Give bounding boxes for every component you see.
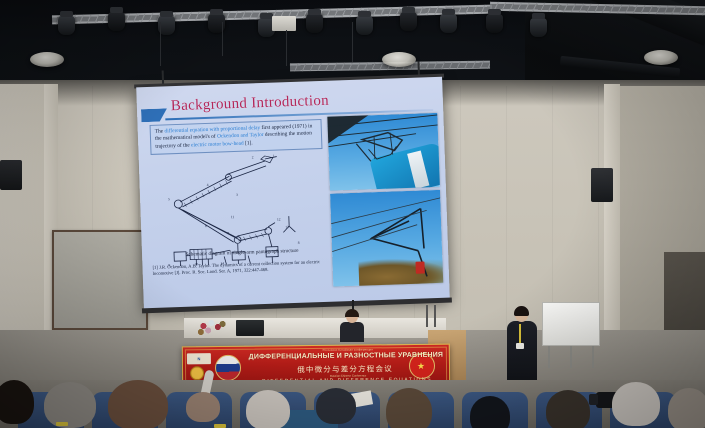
stage-light bbox=[356, 16, 373, 35]
dome-light bbox=[644, 50, 678, 65]
pantograph-arm-lines bbox=[330, 190, 443, 287]
slide-text-seg-3: Ockendon and Taylor bbox=[217, 132, 264, 140]
audience-head bbox=[246, 390, 290, 428]
audience-seating-row bbox=[0, 382, 705, 428]
svg-text:13: 13 bbox=[285, 225, 289, 229]
svg-text:1: 1 bbox=[273, 154, 275, 158]
presenter-torso bbox=[340, 322, 364, 342]
slide-text-box: The differential equation with proportio… bbox=[150, 119, 323, 155]
slide-text-seg-5: electric motor bow-head bbox=[191, 141, 244, 149]
stage-light bbox=[440, 14, 457, 33]
dome-light bbox=[30, 52, 64, 67]
hanging-cable bbox=[222, 22, 223, 56]
presenter-hair bbox=[345, 309, 359, 317]
photo-pantograph-on-blue-train bbox=[327, 113, 440, 191]
red-equipment-box bbox=[415, 261, 424, 273]
attendee-lanyard bbox=[519, 324, 521, 344]
hanging-cable bbox=[352, 22, 353, 62]
audience-head bbox=[668, 388, 705, 428]
audience-head bbox=[612, 382, 660, 426]
audience-lanyard bbox=[214, 424, 226, 428]
flower-arrangement bbox=[197, 318, 229, 338]
stage-light bbox=[486, 14, 503, 33]
svg-text:8: 8 bbox=[298, 241, 300, 245]
svg-text:6: 6 bbox=[205, 224, 207, 228]
stage-light bbox=[58, 16, 75, 35]
audience-head bbox=[386, 388, 432, 428]
slide-corner-accent bbox=[141, 108, 167, 122]
dome-light bbox=[382, 52, 416, 67]
banner-left-logo: N bbox=[187, 353, 211, 364]
slide-text-seg-6: [1]. bbox=[244, 140, 253, 146]
stage-light bbox=[108, 12, 125, 31]
attendee-name-badge bbox=[516, 343, 524, 349]
svg-text:11: 11 bbox=[231, 215, 235, 219]
table-flags bbox=[424, 305, 444, 327]
svg-text:5: 5 bbox=[168, 197, 170, 201]
banner-seal-logo bbox=[190, 366, 204, 380]
hanging-cable bbox=[286, 30, 287, 66]
stage-light bbox=[530, 18, 547, 37]
svg-text:4: 4 bbox=[207, 183, 209, 187]
wall-framed-panel bbox=[52, 230, 148, 330]
russia-flag-icon bbox=[215, 355, 241, 381]
whiteboard-on-stand bbox=[542, 302, 600, 346]
svg-text:3: 3 bbox=[236, 193, 238, 197]
conference-hall-photo: Background Introduction The differential… bbox=[0, 0, 705, 428]
audience-head bbox=[186, 392, 220, 422]
seated-presenter bbox=[339, 310, 365, 340]
attendee-hair bbox=[514, 306, 529, 316]
laptop-on-table bbox=[236, 320, 264, 336]
ceiling-equipment-box bbox=[272, 16, 296, 31]
slide-text-seg-0: The bbox=[155, 128, 165, 134]
audience-head bbox=[0, 380, 34, 424]
photo-pantograph-arm-closeup bbox=[330, 190, 443, 287]
projection-screen: Background Introduction The differential… bbox=[136, 77, 450, 310]
audience-head bbox=[470, 396, 510, 428]
svg-text:2: 2 bbox=[252, 155, 254, 159]
whiteboard-legs bbox=[548, 346, 594, 368]
wall-speaker-right bbox=[591, 168, 613, 202]
svg-text:12: 12 bbox=[277, 217, 281, 221]
stage-light bbox=[306, 14, 323, 33]
audience-head bbox=[108, 380, 168, 428]
audience-lanyard bbox=[56, 422, 68, 426]
svg-text:7: 7 bbox=[227, 231, 229, 235]
audience-head bbox=[546, 390, 590, 428]
audience-head bbox=[44, 382, 96, 428]
hanging-cable bbox=[160, 22, 161, 66]
catenary-wires bbox=[327, 113, 440, 191]
audience-head bbox=[316, 388, 356, 424]
stage-light bbox=[400, 12, 417, 31]
slide-title: Background Introduction bbox=[171, 93, 330, 116]
wall-speaker-left bbox=[0, 160, 22, 190]
